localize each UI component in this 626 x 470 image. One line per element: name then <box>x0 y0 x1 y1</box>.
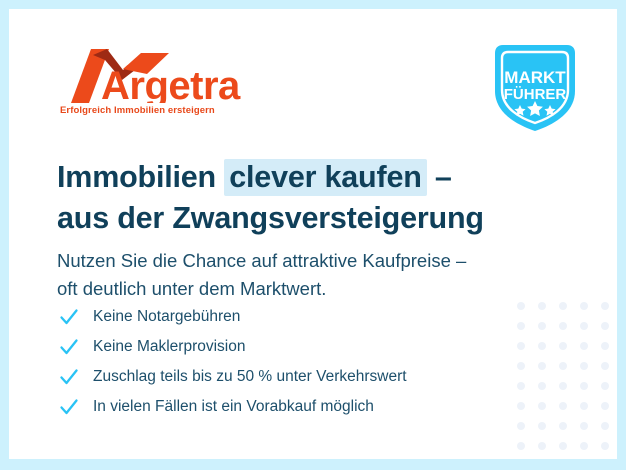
page-title: Immobilien clever kaufen – aus der Zwang… <box>57 157 577 238</box>
badge-line1: MARKT <box>504 68 566 87</box>
headline-highlight: clever kaufen <box>224 159 426 196</box>
list-item: Keine Maklerprovision <box>59 332 529 361</box>
svg-text:Argetra: Argetra <box>101 64 241 103</box>
badge-line2: FÜHRER <box>504 86 567 103</box>
banner-card: Argetra Erfolgreich Immobilien ersteiger… <box>9 9 617 459</box>
check-icon <box>59 307 79 327</box>
logo-tagline: Erfolgreich Immobilien ersteigern <box>60 105 215 116</box>
headline-line1-after: – <box>427 160 452 194</box>
list-item: In vielen Fällen ist ein Vorabkauf mögli… <box>59 392 529 421</box>
check-icon <box>59 367 79 387</box>
benefit-label: Keine Notargebühren <box>93 309 240 325</box>
promo-banner: Argetra Erfolgreich Immobilien ersteiger… <box>0 0 626 470</box>
check-icon <box>59 337 79 357</box>
argetra-logo-icon: Argetra <box>57 47 257 103</box>
benefits-list: Keine Notargebühren Keine Maklerprovisio… <box>59 302 529 422</box>
market-leader-badge: MARKT FÜHRER <box>489 39 581 135</box>
subheading-line1: Nutzen Sie die Chance auf attraktive Kau… <box>57 250 466 271</box>
benefit-label: In vielen Fällen ist ein Vorabkauf mögli… <box>93 399 374 415</box>
list-item: Keine Notargebühren <box>59 302 529 331</box>
subheading-line2: oft deutlich unter dem Marktwert. <box>57 278 326 299</box>
headline-line1-before: Immobilien <box>57 160 224 194</box>
argetra-logo: Argetra Erfolgreich Immobilien ersteiger… <box>57 47 257 119</box>
headline-line2: aus der Zwangsversteigerung <box>57 201 484 235</box>
subheading: Nutzen Sie die Chance auf attraktive Kau… <box>57 247 577 303</box>
list-item: Zuschlag teils bis zu 50 % unter Verkehr… <box>59 362 529 391</box>
benefit-label: Keine Maklerprovision <box>93 339 246 355</box>
benefit-label: Zuschlag teils bis zu 50 % unter Verkehr… <box>93 369 407 385</box>
check-icon <box>59 397 79 417</box>
